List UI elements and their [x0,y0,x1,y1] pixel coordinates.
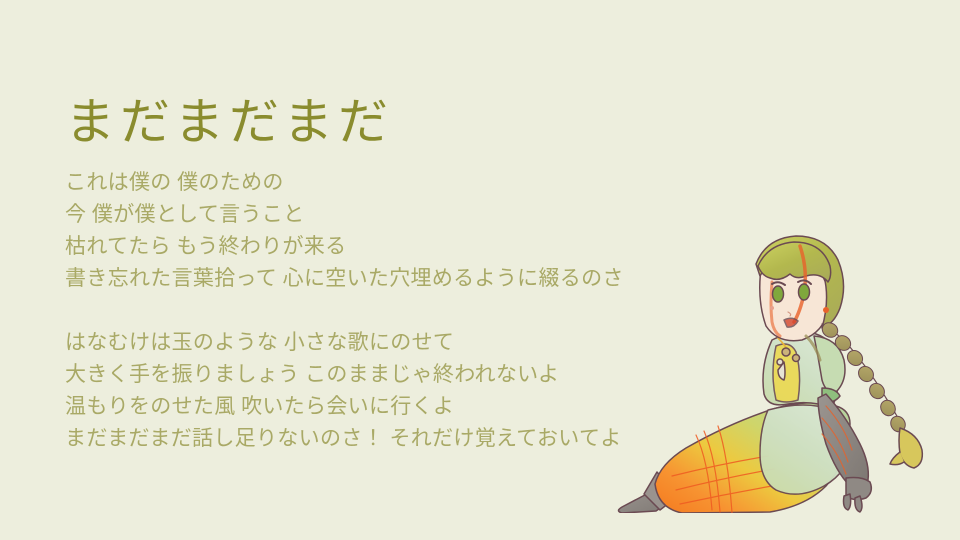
illustration-bodice [763,332,845,408]
slide-title: まだまだまだ [65,92,393,152]
lyric-line: 書き忘れた言葉拾って 心に空いた穴埋めるように綴るのさ [65,262,625,294]
lyrics-stanza: はなむけは玉のような 小さな歌にのせて 大きく手を振りましょう このままじゃ終わ… [65,326,625,454]
presentation-slide: まだまだまだ これは僕の 僕のための 今 僕が僕として言うこと 枯れてたら もう… [0,0,960,540]
lyric-line: 今 僕が僕として言うこと [65,198,625,230]
lyric-line: 枯れてたら もう終わりが来る [65,230,625,262]
lyric-line: 大きく手を振りましょう このままじゃ終われないよ [65,358,625,390]
lyric-line: まだまだまだ話し足りないのさ！ それだけ覚えておいてよ [65,422,625,454]
lyrics-stanza: これは僕の 僕のための 今 僕が僕として言うこと 枯れてたら もう終わりが来る … [65,166,625,294]
illustration-watercolor-girl [600,228,940,513]
lyric-line: 温もりをのせた風 吹いたら会いに行くよ [65,390,625,422]
lyrics-body: これは僕の 僕のための 今 僕が僕として言うこと 枯れてたら もう終わりが来る … [65,166,625,454]
lyric-line: はなむけは玉のような 小さな歌にのせて [65,326,625,358]
lyric-line: これは僕の 僕のための [65,166,625,198]
